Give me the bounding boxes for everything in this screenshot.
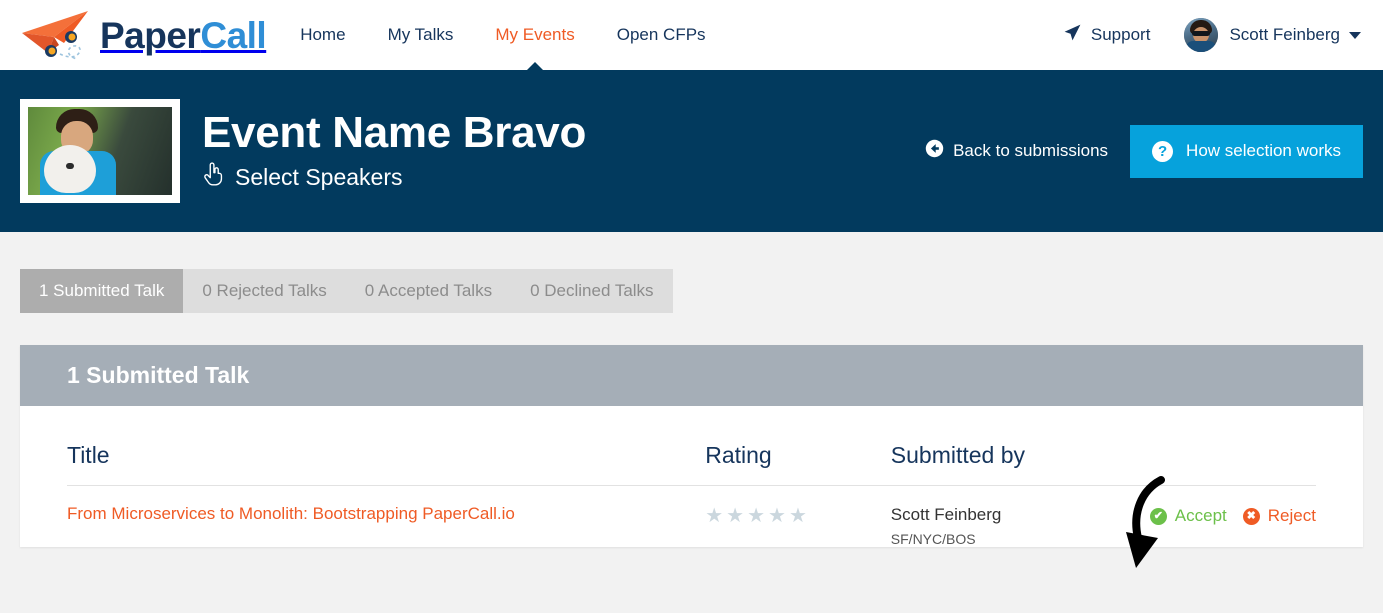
cell-rating: ★ ★ ★ ★ ★ [705, 486, 891, 548]
tab-rejected-talks[interactable]: 0 Rejected Talks [183, 269, 345, 313]
rating-star-4[interactable]: ★ [768, 506, 786, 526]
logo-text-paper: Paper [100, 15, 200, 56]
how-selection-works-button[interactable]: ? How selection works [1130, 125, 1363, 178]
banner-text-group: Event Name Bravo Select Speakers [202, 110, 586, 192]
support-link[interactable]: Support [1063, 23, 1151, 47]
cell-actions: ✔ Accept ✖ Reject [1150, 486, 1316, 548]
event-banner: Event Name Bravo Select Speakers Back to… [0, 70, 1383, 232]
banner-actions: Back to submissions ? How selection work… [925, 125, 1363, 178]
reject-button[interactable]: ✖ Reject [1243, 506, 1316, 526]
tabs-section: 1 Submitted Talk 0 Rejected Talks 0 Acce… [0, 232, 1383, 313]
paper-plane-icon [1063, 23, 1082, 47]
submitted-talks-panel: 1 Submitted Talk Title Rating Submitted … [20, 345, 1363, 547]
nav-item-open-cfps[interactable]: Open CFPs [617, 0, 706, 70]
nav-item-my-talks[interactable]: My Talks [388, 0, 454, 70]
rating-stars[interactable]: ★ ★ ★ ★ ★ [705, 504, 891, 526]
back-to-submissions-label: Back to submissions [953, 141, 1108, 161]
paper-plane-logo-icon [18, 7, 98, 63]
accept-button[interactable]: ✔ Accept [1150, 506, 1227, 526]
talks-table: Title Rating Submitted by From Microserv… [67, 442, 1316, 547]
papercall-logo[interactable]: PaperCall [18, 7, 266, 63]
rating-star-1[interactable]: ★ [705, 506, 723, 526]
talks-table-body: From Microservices to Monolith: Bootstra… [67, 486, 1316, 548]
column-header-actions [1150, 442, 1316, 486]
nav-item-home[interactable]: Home [300, 0, 345, 70]
talks-table-head: Title Rating Submitted by [67, 442, 1316, 486]
check-circle-icon: ✔ [1150, 508, 1167, 525]
pointing-hand-icon [202, 162, 224, 192]
nav-item-my-events[interactable]: My Events [495, 0, 574, 70]
reject-button-label: Reject [1268, 506, 1316, 526]
tab-declined-talks[interactable]: 0 Declined Talks [511, 269, 672, 313]
column-header-rating: Rating [705, 442, 891, 486]
user-menu[interactable]: Scott Feinberg [1184, 18, 1361, 52]
nav-right-group: Support Scott Feinberg [1063, 18, 1361, 52]
cell-submitted-by: Scott Feinberg SF/NYC/BOS [891, 486, 1150, 548]
banner-subtitle: Select Speakers [202, 162, 586, 192]
submitted-talks-panel-wrap: 1 Submitted Talk Title Rating Submitted … [0, 313, 1383, 547]
talk-status-tabs: 1 Submitted Talk 0 Rejected Talks 0 Acce… [20, 269, 673, 313]
event-thumbnail [20, 99, 180, 203]
submitter-name: Scott Feinberg [891, 504, 1150, 526]
tab-submitted-talks[interactable]: 1 Submitted Talk [20, 269, 183, 313]
page-title: Event Name Bravo [202, 110, 586, 156]
table-row: From Microservices to Monolith: Bootstra… [67, 486, 1316, 548]
logo-text-call: Call [200, 15, 266, 56]
column-header-title: Title [67, 442, 705, 486]
talk-title-link[interactable]: From Microservices to Monolith: Bootstra… [67, 504, 515, 523]
submitter-location: SF/NYC/BOS [891, 531, 1150, 547]
x-circle-icon: ✖ [1243, 508, 1260, 525]
top-navigation-bar: PaperCall Home My Talks My Events Open C… [0, 0, 1383, 70]
back-to-submissions-link[interactable]: Back to submissions [925, 139, 1108, 163]
accept-button-label: Accept [1175, 506, 1227, 526]
table-header-row: Title Rating Submitted by [67, 442, 1316, 486]
cell-talk-title: From Microservices to Monolith: Bootstra… [67, 486, 705, 548]
how-selection-works-label: How selection works [1186, 141, 1341, 161]
rating-star-5[interactable]: ★ [789, 506, 807, 526]
panel-body: Title Rating Submitted by From Microserv… [20, 406, 1363, 547]
user-menu-name: Scott Feinberg [1229, 25, 1340, 45]
arrow-left-circle-icon [925, 139, 944, 163]
tab-accepted-talks[interactable]: 0 Accepted Talks [346, 269, 511, 313]
rating-star-3[interactable]: ★ [747, 506, 765, 526]
rating-star-2[interactable]: ★ [726, 506, 744, 526]
banner-subtitle-label: Select Speakers [235, 164, 402, 191]
chevron-down-icon [1349, 32, 1361, 39]
question-circle-icon: ? [1152, 141, 1173, 162]
column-header-submitted-by: Submitted by [891, 442, 1150, 486]
support-link-label: Support [1091, 25, 1151, 45]
main-nav-links: Home My Talks My Events Open CFPs [300, 0, 705, 70]
panel-header: 1 Submitted Talk [20, 345, 1363, 406]
avatar [1184, 18, 1218, 52]
panel-header-title: 1 Submitted Talk [67, 362, 1316, 389]
